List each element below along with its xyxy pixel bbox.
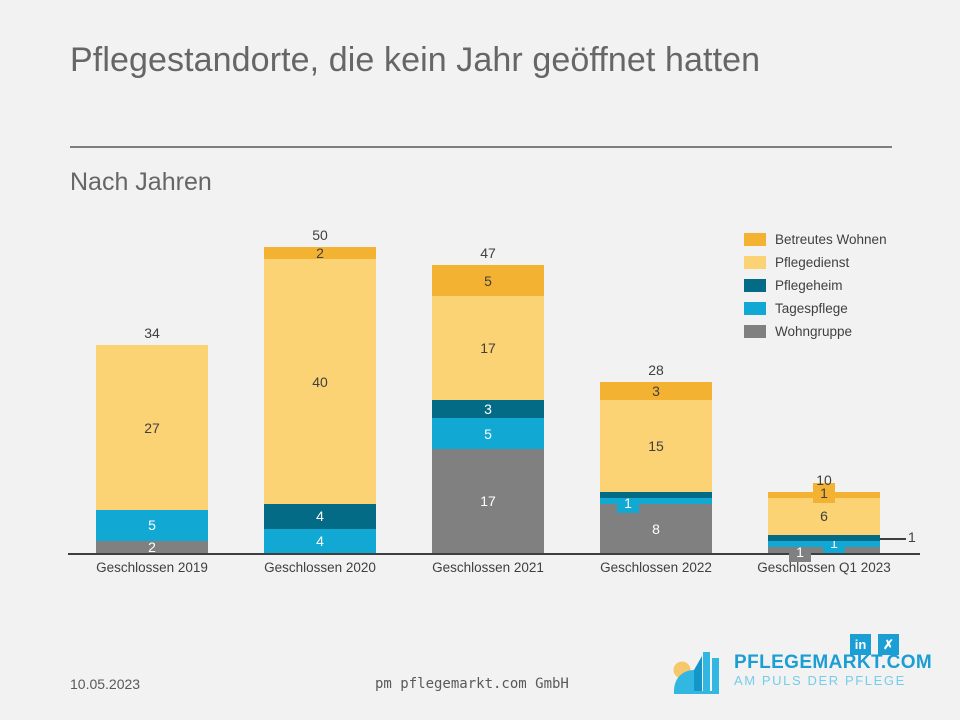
x-axis-category-label: Geschlossen 2021 [398,560,578,575]
bar-total-label: 10 [768,472,880,488]
legend-swatch-betreutes-wohnen [744,233,766,246]
legend-item-tagespflege[interactable]: Tagespflege [744,299,919,318]
x-axis-category-label: Geschlossen 2019 [62,560,242,575]
legend-item-wohngruppe[interactable]: Wohngruppe [744,322,919,341]
bar-segment-value: 2 [264,245,376,261]
bar-segment-value: 40 [264,374,376,390]
bar-segment-value: 17 [432,340,544,356]
bar-segment-value: 4 [264,508,376,524]
legend-swatch-tagespflege [744,302,766,315]
legend-label-pflegedienst: Pflegedienst [775,255,849,270]
bar-segment-value: 4 [264,533,376,549]
legend-swatch-wohngruppe [744,325,766,338]
bar-segment[interactable] [600,492,712,498]
bar-segment-value: 1 [908,529,916,545]
x-axis-category-label: Geschlossen Q1 2023 [734,560,914,575]
bar-total-label: 34 [96,325,208,341]
linkedin-icon[interactable]: in [850,634,871,655]
pflegemarkt-logo: PFLEGEMARKT.COM AM PULS DER PFLEGE in ✗ [672,640,902,702]
social-links: in ✗ [850,634,899,655]
bar-total-label: 50 [264,227,376,243]
stacked-bar-chart: 252734Geschlossen 20194440250Geschlossen… [0,0,960,720]
legend-item-pflegedienst[interactable]: Pflegedienst [744,253,919,272]
logo-wordmark: PFLEGEMARKT.COM AM PULS DER PFLEGE [734,652,932,689]
bar-segment-value: 8 [600,521,712,537]
bar-segment-value: 6 [768,508,880,524]
bar-total-label: 28 [600,362,712,378]
bar-segment-value: 3 [600,383,712,399]
logo-tagline: AM PULS DER PFLEGE [734,673,932,689]
chart-legend: Betreutes Wohnen Pflegedienst Pflegeheim… [744,230,919,345]
bar-segment-value: 15 [600,438,712,454]
legend-item-pflegeheim[interactable]: Pflegeheim [744,276,919,295]
legend-swatch-pflegeheim [744,279,766,292]
bar-segment-value: 2 [96,539,208,555]
bar-total-label: 47 [432,245,544,261]
xing-icon[interactable]: ✗ [878,634,899,655]
legend-label-tagespflege: Tagespflege [775,301,848,316]
bar-segment-value: 17 [432,493,544,509]
legend-label-wohngruppe: Wohngruppe [775,324,852,339]
bar-segment-value: 5 [96,517,208,533]
x-axis-category-label: Geschlossen 2020 [230,560,410,575]
legend-label-betreutes-wohnen: Betreutes Wohnen [775,232,887,247]
bar-leader-line [880,538,906,540]
logo-name: PFLEGEMARKT.COM [734,652,932,673]
bar-segment[interactable] [768,535,880,541]
bar-segment-value: 27 [96,420,208,436]
logo-buildings-icon [672,644,730,696]
bar-segment-value: 5 [432,273,544,289]
footer-company: pm pflegemarkt.com GmbH [375,676,569,692]
x-axis-category-label: Geschlossen 2022 [566,560,746,575]
footer-date: 10.05.2023 [70,676,140,692]
legend-label-pflegeheim: Pflegeheim [775,278,843,293]
legend-swatch-pflegedienst [744,256,766,269]
bar-segment-value: 5 [432,426,544,442]
legend-item-betreutes-wohnen[interactable]: Betreutes Wohnen [744,230,919,249]
bar-segment-value: 3 [432,401,544,417]
